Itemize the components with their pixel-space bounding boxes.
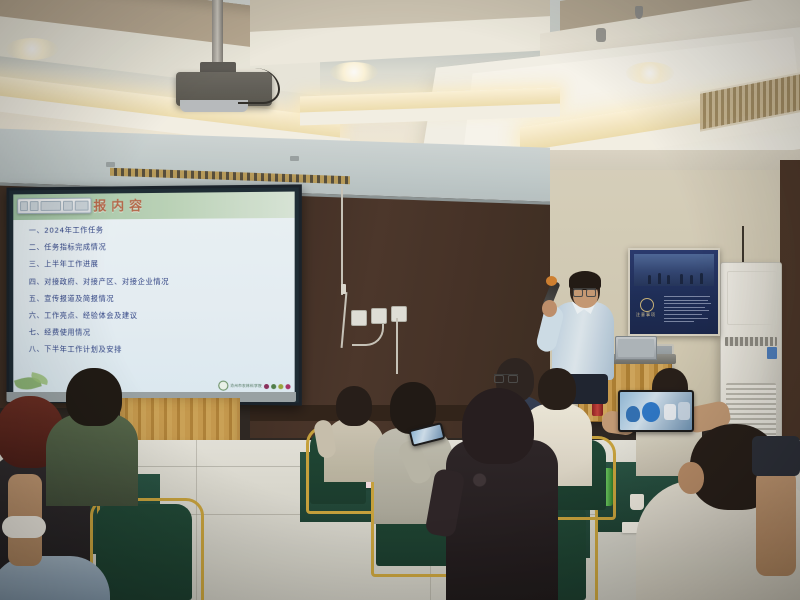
microphone-head-icon: [546, 276, 557, 286]
slide-list-button[interactable]: [30, 201, 39, 211]
attendee-head: [66, 368, 122, 426]
next-slide-button[interactable]: [63, 201, 73, 211]
attendee-shorts: [752, 436, 800, 476]
attendee-head: [462, 388, 534, 464]
glasses-icon: [573, 288, 596, 295]
footer-dot: [271, 384, 276, 389]
slide-line: 五、宣传报道及简报情况: [29, 294, 289, 304]
conference-room-photo: 注意事项 汇报内容 一、2024年工作任务 二、任务指标完成情况 三、上半年: [0, 0, 800, 600]
presenter-laptop[interactable]: [615, 336, 657, 360]
slide-line: 八、下半年工作计划及安排: [29, 345, 289, 356]
slide-line: 二、任务指标完成情况: [29, 241, 289, 252]
slide-surface: 汇报内容 一、2024年工作任务 二、任务指标完成情况 三、上半年工作进展 四、…: [13, 192, 294, 399]
smoke-detector-icon: [596, 28, 606, 42]
footer-dot: [278, 384, 283, 389]
attendee-head: [336, 386, 372, 426]
wall-outlet: [391, 306, 407, 322]
wall-poster: 注意事项: [628, 248, 720, 336]
institute-logo-icon: [218, 381, 228, 391]
cable-clip: [341, 284, 346, 294]
attendee-ear: [678, 462, 704, 494]
institute-name: 沧州市农林科学院: [230, 383, 262, 388]
slide-line: 六、工作亮点、经验体会及建议: [29, 311, 289, 322]
poster-text-block: [664, 296, 712, 325]
wall-cable: [341, 185, 343, 295]
recording-phone[interactable]: [618, 390, 694, 432]
footer-dot: [264, 383, 269, 388]
presenter-hand: [542, 300, 557, 317]
wall-corner: [780, 160, 800, 460]
slide-logo: 沧州市农林科学院: [218, 381, 290, 392]
ac-upper-panel: [727, 271, 777, 325]
attendee-torso: [46, 414, 138, 506]
paper-cup[interactable]: [630, 494, 644, 510]
slide-content-list: 一、2024年工作任务 二、任务指标完成情况 三、上半年工作进展 四、对接政府、…: [29, 224, 289, 363]
wall-outlet: [371, 308, 387, 324]
poster-caption: 注意事项: [636, 312, 656, 318]
ac-power-cord: [742, 226, 744, 266]
more-options-button[interactable]: [75, 201, 89, 211]
attendee-torso: [446, 440, 558, 600]
presentation-control-toolbar[interactable]: [17, 198, 91, 215]
downlight-icon: [626, 62, 674, 84]
prev-slide-button[interactable]: [20, 201, 28, 211]
downlight-icon: [6, 38, 58, 60]
ac-brand-badge: [767, 347, 777, 359]
poster-emblem-icon: [640, 298, 654, 312]
valance-clip: [106, 162, 115, 167]
slide-line: 三、上半年工作进展: [29, 259, 289, 270]
wall-outlet: [351, 310, 367, 326]
laptop-screen: [618, 339, 654, 357]
wall-cable: [396, 318, 398, 374]
glasses-icon: [494, 374, 518, 381]
slide-line: 一、2024年工作任务: [29, 224, 289, 236]
poster-photo: [634, 254, 714, 286]
ac-control-panel[interactable]: [725, 337, 777, 346]
attendee-leg: [756, 470, 796, 576]
footer-dot: [285, 384, 290, 389]
phone-screen-preview: [620, 392, 692, 430]
projector-mount-pole: [212, 0, 223, 66]
slide-line: 四、对接政府、对接产区、对接企业情况: [29, 276, 289, 286]
attendee-shoe: [2, 516, 46, 538]
projection-screen[interactable]: 汇报内容 一、2024年工作任务 二、任务指标完成情况 三、上半年工作进展 四、…: [7, 184, 302, 405]
valance-clip: [290, 156, 299, 161]
slide-line: 七、经费使用情况: [29, 328, 289, 339]
attendee-head: [538, 368, 576, 410]
pen-tool-button[interactable]: [41, 201, 62, 211]
downlight-icon: [330, 62, 378, 82]
sprinkler-icon: [635, 6, 643, 19]
